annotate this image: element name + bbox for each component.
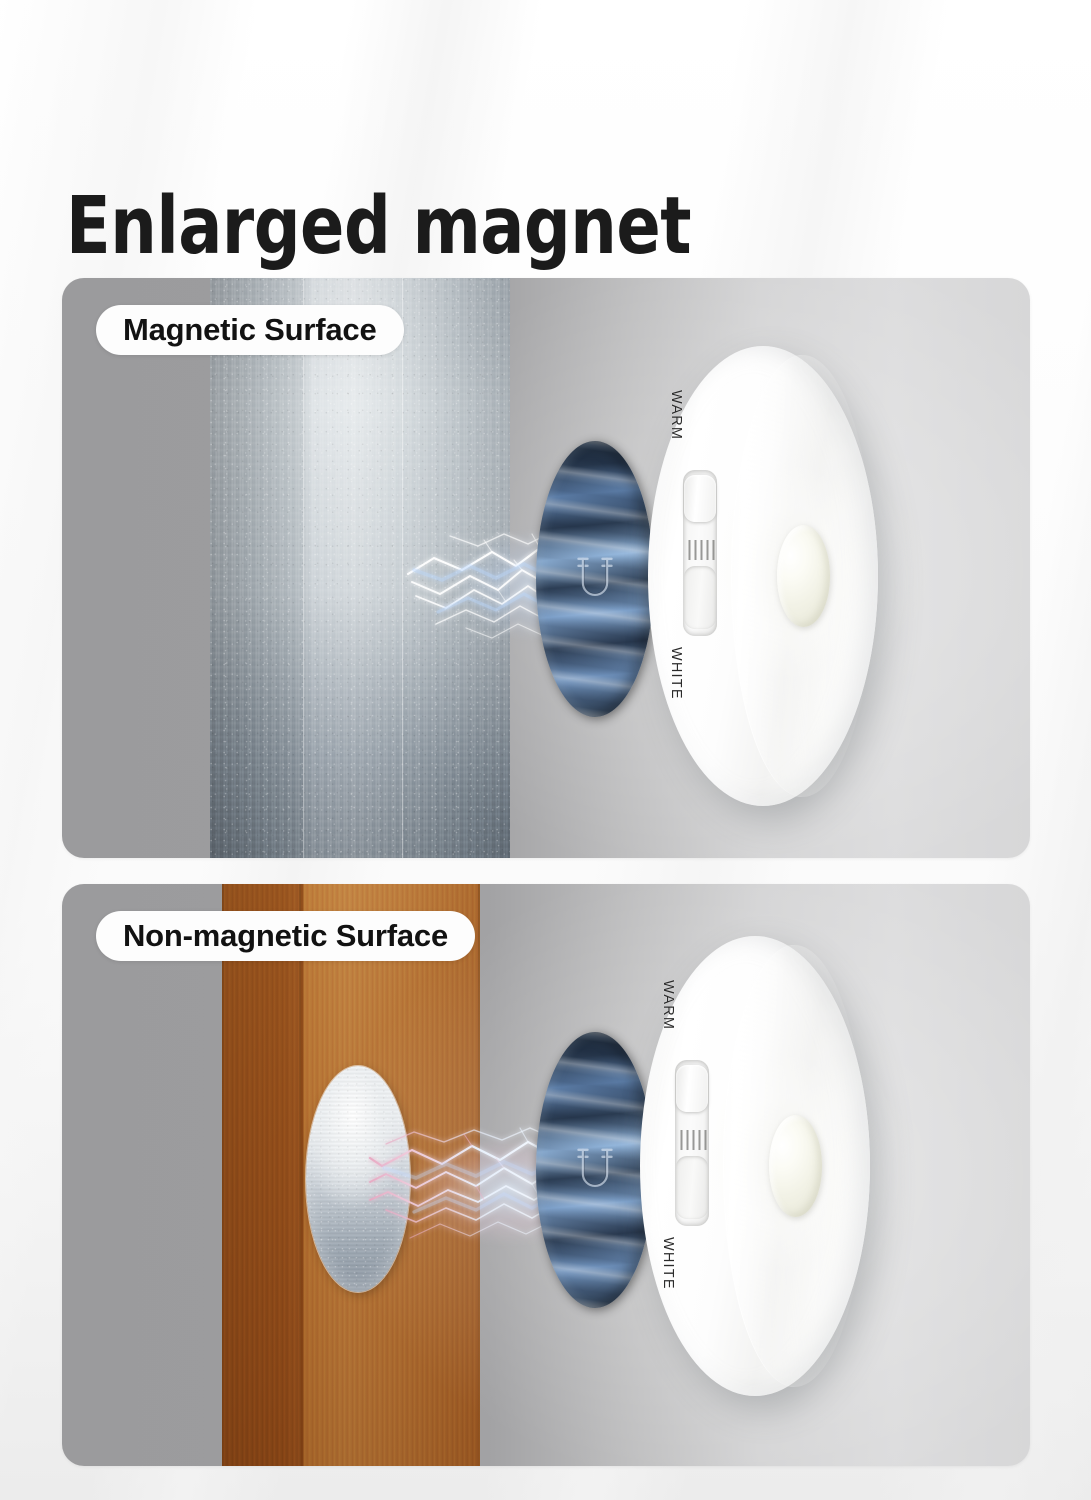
switch-label-warm: WARM: [660, 980, 676, 1030]
badge-non-magnetic-surface: Non-magnetic Surface: [96, 911, 475, 961]
product-feature-page: Enlarged magnet Super strong suction: [0, 0, 1091, 1500]
night-light-device-non-magnetic: WARM WHITE: [640, 936, 870, 1396]
switch-knob[interactable]: [676, 1065, 708, 1111]
switch-knob[interactable]: [684, 475, 716, 521]
switch-slot[interactable]: [676, 1156, 708, 1219]
horseshoe-magnet-icon: [573, 549, 617, 607]
switch-slot[interactable]: [684, 566, 716, 629]
color-mode-switch[interactable]: [675, 1060, 710, 1226]
night-light-device-magnetic: WARM WHITE: [648, 346, 878, 806]
motion-sensor-dome: [777, 525, 830, 626]
horseshoe-magnet-icon: [573, 1140, 617, 1198]
switch-label-white: WHITE: [660, 1237, 676, 1290]
badge-magnetic-surface: Magnetic Surface: [96, 305, 404, 355]
color-mode-switch[interactable]: [683, 470, 718, 636]
switch-grip-lines: [685, 540, 715, 560]
headline-line-1: Enlarged magnet: [66, 180, 691, 272]
magnet-disc-non-magnetic: [536, 1032, 654, 1308]
switch-label-white: WHITE: [668, 647, 684, 700]
switch-grip-lines: [677, 1130, 707, 1150]
magnet-disc-magnetic: [536, 441, 654, 717]
switch-label-warm: WARM: [668, 390, 684, 440]
motion-sensor-dome: [769, 1115, 822, 1216]
